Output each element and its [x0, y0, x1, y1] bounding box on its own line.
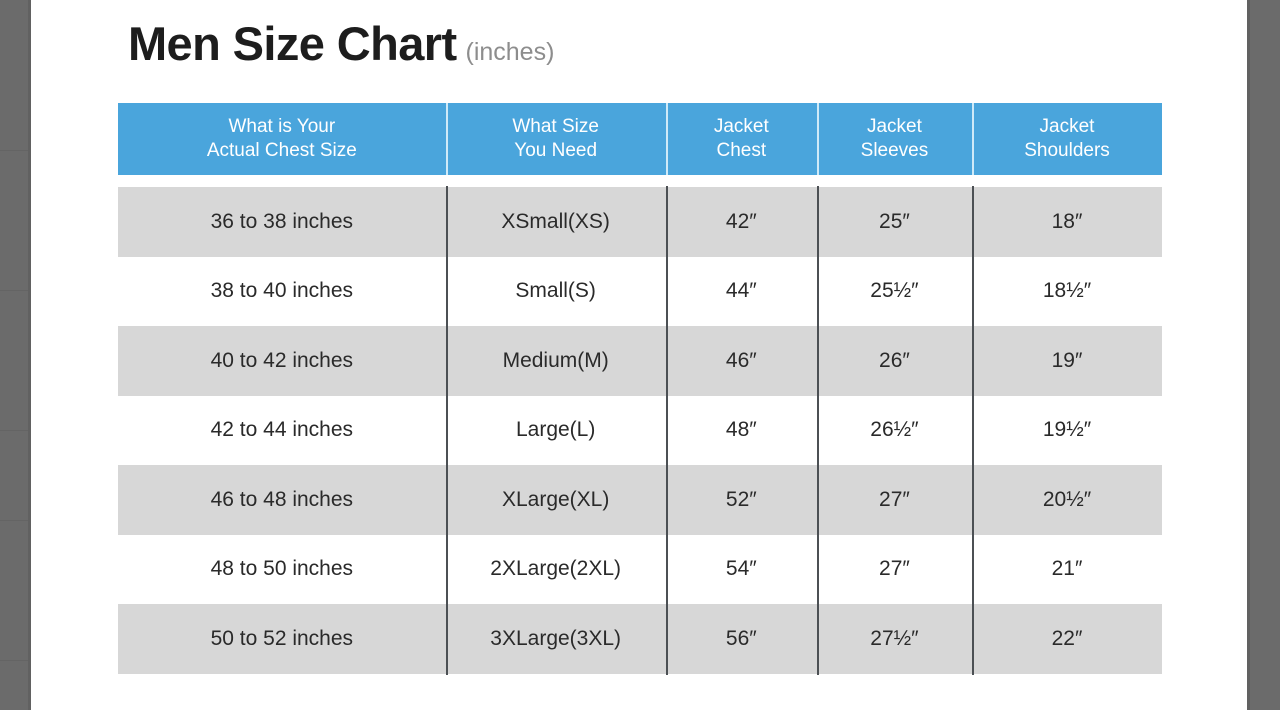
table-row: 50 to 52 inches 3XLarge(3XL) 56″ 27½″ 22…	[118, 604, 1162, 674]
cell-jacket-sleeves: 25″	[817, 187, 972, 257]
cell-jacket-shoulders: 21″	[972, 535, 1162, 605]
cell-jacket-shoulders: 19½″	[972, 396, 1162, 466]
slide-page: Men Size Chart (inches) What is Your Act…	[31, 0, 1247, 710]
cell-jacket-chest: 46″	[666, 326, 817, 396]
letterbox-tone-stripe	[0, 150, 31, 151]
column-header-actual-chest-size: What is Your Actual Chest Size	[118, 103, 446, 175]
cell-jacket-chest: 48″	[666, 396, 817, 466]
column-header-line1: Jacket	[714, 115, 769, 139]
table-row: 40 to 42 inches Medium(M) 46″ 26″ 19″	[118, 326, 1162, 396]
cell-size-label: 3XLarge(3XL)	[446, 604, 666, 674]
cell-jacket-chest: 44″	[666, 257, 817, 327]
slide-canvas: Men Size Chart (inches) What is Your Act…	[0, 0, 1280, 710]
table-row: 48 to 50 inches 2XLarge(2XL) 54″ 27″ 21″	[118, 535, 1162, 605]
cell-jacket-sleeves: 27½″	[817, 604, 972, 674]
table-row: 46 to 48 inches XLarge(XL) 52″ 27″ 20½″	[118, 465, 1162, 535]
cell-chest-range: 36 to 38 inches	[118, 187, 446, 257]
table-header-row: What is Your Actual Chest Size What Size…	[118, 103, 1162, 175]
column-header-line2: You Need	[514, 139, 597, 163]
page-title: Men Size Chart (inches)	[128, 20, 554, 67]
column-header-line2: Actual Chest Size	[207, 139, 357, 163]
cell-jacket-sleeves: 26″	[817, 326, 972, 396]
cell-size-label: Small(S)	[446, 257, 666, 327]
column-header-jacket-shoulders: Jacket Shoulders	[972, 103, 1162, 175]
cell-chest-range: 46 to 48 inches	[118, 465, 446, 535]
cell-jacket-shoulders: 19″	[972, 326, 1162, 396]
cell-size-label: Large(L)	[446, 396, 666, 466]
column-header-line2: Shoulders	[1024, 139, 1110, 163]
column-header-jacket-sleeves: Jacket Sleeves	[817, 103, 972, 175]
cell-jacket-sleeves: 26½″	[817, 396, 972, 466]
cell-chest-range: 42 to 44 inches	[118, 396, 446, 466]
table-row: 36 to 38 inches XSmall(XS) 42″ 25″ 18″	[118, 187, 1162, 257]
cell-chest-range: 48 to 50 inches	[118, 535, 446, 605]
letterbox-tone-stripe	[0, 290, 31, 291]
cell-chest-range: 40 to 42 inches	[118, 326, 446, 396]
letterbox-seam-right	[1247, 0, 1250, 710]
cell-chest-range: 38 to 40 inches	[118, 257, 446, 327]
letterbox-tone-stripe	[0, 520, 31, 521]
cell-jacket-sleeves: 25½″	[817, 257, 972, 327]
size-chart-table: What is Your Actual Chest Size What Size…	[118, 103, 1162, 674]
table-row: 38 to 40 inches Small(S) 44″ 25½″ 18½″	[118, 257, 1162, 327]
cell-jacket-shoulders: 18″	[972, 187, 1162, 257]
cell-jacket-shoulders: 18½″	[972, 257, 1162, 327]
header-body-gap	[118, 175, 1162, 187]
cell-jacket-sleeves: 27″	[817, 465, 972, 535]
cell-jacket-chest: 54″	[666, 535, 817, 605]
cell-size-label: XSmall(XS)	[446, 187, 666, 257]
cell-jacket-chest: 56″	[666, 604, 817, 674]
column-header-line1: Jacket	[867, 115, 922, 139]
column-header-size-you-need: What Size You Need	[446, 103, 666, 175]
cell-jacket-shoulders: 22″	[972, 604, 1162, 674]
cell-size-label: Medium(M)	[446, 326, 666, 396]
letterbox-band-left	[0, 0, 31, 710]
column-header-line2: Sleeves	[861, 139, 929, 163]
column-header-line1: What is Your	[228, 115, 335, 139]
column-header-jacket-chest: Jacket Chest	[666, 103, 817, 175]
column-header-line1: Jacket	[1040, 115, 1095, 139]
cell-jacket-sleeves: 27″	[817, 535, 972, 605]
cell-jacket-chest: 42″	[666, 187, 817, 257]
table-row: 42 to 44 inches Large(L) 48″ 26½″ 19½″	[118, 396, 1162, 466]
column-header-line1: What Size	[512, 115, 599, 139]
cell-size-label: 2XLarge(2XL)	[446, 535, 666, 605]
cell-jacket-chest: 52″	[666, 465, 817, 535]
page-title-unit: (inches)	[466, 40, 555, 65]
letterbox-tone-stripe	[0, 660, 31, 661]
letterbox-tone-stripe	[0, 430, 31, 431]
cell-jacket-shoulders: 20½″	[972, 465, 1162, 535]
cell-size-label: XLarge(XL)	[446, 465, 666, 535]
letterbox-band-right	[1247, 0, 1280, 710]
cell-chest-range: 50 to 52 inches	[118, 604, 446, 674]
column-header-line2: Chest	[716, 139, 766, 163]
page-title-main: Men Size Chart	[128, 20, 457, 67]
